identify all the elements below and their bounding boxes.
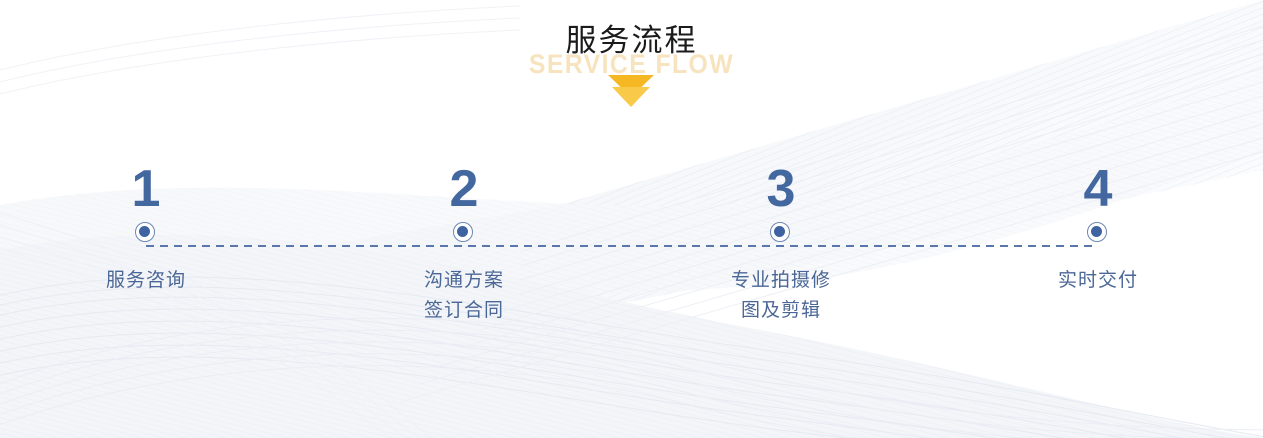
step-marker-dot[interactable] xyxy=(770,222,792,244)
step-label-line1: 专业拍摄修 xyxy=(731,270,831,291)
step-label: 专业拍摄修 图及剪辑 xyxy=(666,266,896,326)
step-marker-dot[interactable] xyxy=(135,222,157,244)
step-label-line1: 沟通方案 xyxy=(424,270,504,291)
service-flow-banner: SERVICE FLOW 服务流程 1 服务咨询 2 xyxy=(0,0,1263,438)
step-label: 服务咨询 xyxy=(31,266,261,296)
timeline-step-2[interactable]: 2 沟通方案 签订合同 xyxy=(349,160,579,326)
timeline-step-3[interactable]: 3 专业拍摄修 图及剪辑 xyxy=(666,160,896,326)
step-label-line2: 签订合同 xyxy=(349,296,579,326)
step-label-line1: 服务咨询 xyxy=(106,270,186,291)
timeline-step-1[interactable]: 1 服务咨询 xyxy=(31,160,261,296)
arrow-down-double-icon xyxy=(0,73,1263,115)
page-title: 服务流程 xyxy=(0,22,1263,60)
step-label: 沟通方案 签订合同 xyxy=(349,266,579,326)
heading-block: SERVICE FLOW 服务流程 xyxy=(0,22,1263,60)
step-label: 实时交付 xyxy=(983,266,1213,296)
step-number: 2 xyxy=(349,160,579,218)
step-label-line2: 图及剪辑 xyxy=(666,296,896,326)
step-label-line1: 实时交付 xyxy=(1058,270,1138,291)
timeline-step-4[interactable]: 4 实时交付 xyxy=(983,160,1213,296)
step-number: 1 xyxy=(31,160,261,218)
step-marker-dot[interactable] xyxy=(453,222,475,244)
step-number: 4 xyxy=(983,160,1213,218)
step-number: 3 xyxy=(666,160,896,218)
step-marker-dot[interactable] xyxy=(1087,222,1109,244)
timeline-dashed-line xyxy=(146,245,1098,247)
